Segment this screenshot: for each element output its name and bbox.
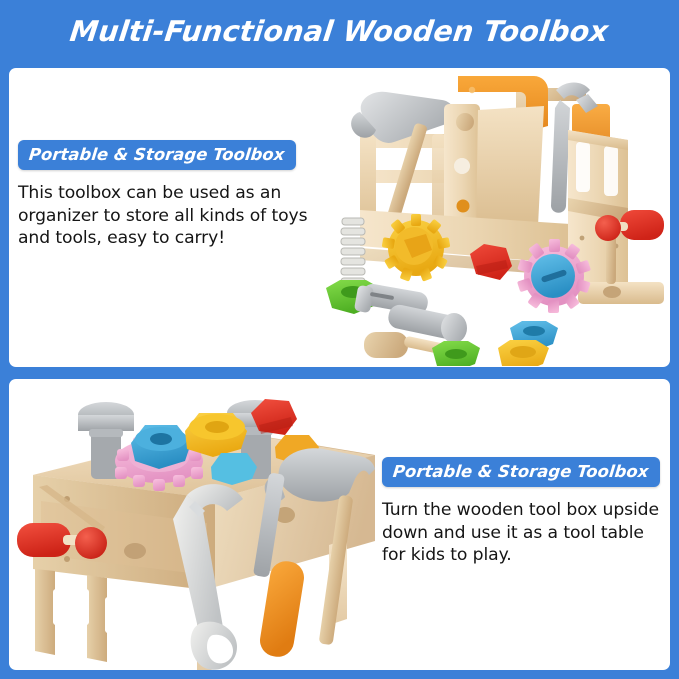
toy-nut-yellow [498, 340, 549, 366]
panel-2-badge: Portable & Storage Toolbox [382, 457, 660, 487]
panel-1-badge-label: Portable & Storage Toolbox [28, 145, 285, 164]
panel-1-text-block: Portable & Storage Toolbox This toolbox … [18, 140, 318, 250]
toy-vise-clamp-red-2 [17, 523, 107, 559]
panel-1-badge: Portable & Storage Toolbox [18, 140, 296, 170]
panel-2-product-image [11, 383, 381, 670]
header-banner: Multi-Functional Wooden Toolbox [0, 0, 679, 62]
toy-gear-yellow [382, 214, 451, 282]
infographic-root: Multi-Functional Wooden Toolbox Portable… [0, 0, 679, 679]
panel-2-text-block: Portable & Storage Toolbox Turn the wood… [382, 457, 670, 567]
feature-panel-2: Portable & Storage Toolbox Turn the wood… [9, 379, 670, 670]
feature-panel-1: Portable & Storage Toolbox This toolbox … [9, 68, 670, 367]
panel-1-product-image [320, 70, 670, 366]
panel-1-body-text: This toolbox can be used as an organizer… [18, 182, 318, 250]
panel-2-badge-label: Portable & Storage Toolbox [392, 462, 649, 481]
page-title: Multi-Functional Wooden Toolbox [68, 15, 610, 48]
spring-shaft [341, 218, 365, 285]
toy-nut-green-2 [432, 341, 480, 366]
panel-2-body-text: Turn the wooden tool box upside down and… [382, 499, 670, 567]
toolbox-inner-panel [476, 106, 544, 234]
